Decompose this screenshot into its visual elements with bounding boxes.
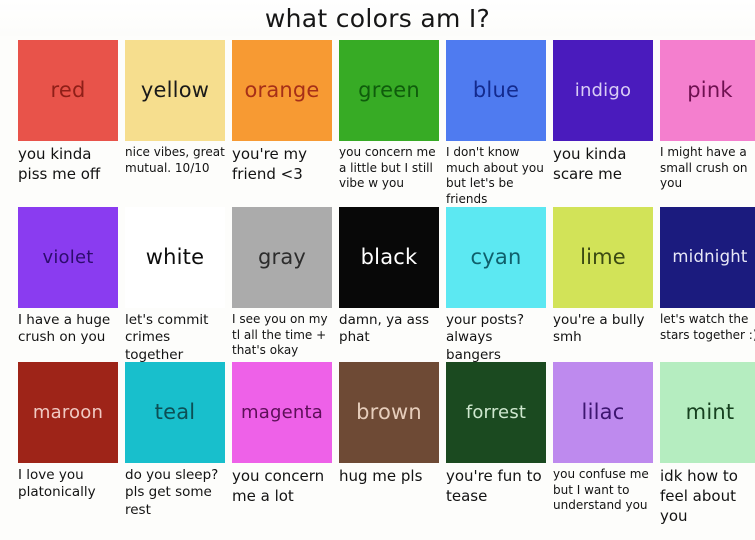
color-caption-pink: I might have a small crush on you <box>660 145 755 192</box>
color-caption-maroon: I love you platonically <box>18 467 118 502</box>
color-cell-violet[interactable]: violetI have a huge crush on you <box>18 207 118 347</box>
color-cell-magenta[interactable]: magentayou concern me a lot <box>232 362 332 507</box>
color-caption-forrest: you're fun to tease <box>446 467 546 507</box>
color-swatch-violet[interactable]: violet <box>18 207 118 308</box>
color-name-orange: orange <box>244 80 319 101</box>
color-cell-lime[interactable]: limeyou're a bully smh <box>553 207 653 347</box>
color-cell-pink[interactable]: pinkI might have a small crush on you <box>660 40 755 192</box>
color-swatch-green[interactable]: green <box>339 40 439 141</box>
color-name-gray: gray <box>258 247 306 268</box>
color-name-magenta: magenta <box>241 404 323 422</box>
color-name-violet: violet <box>43 249 94 267</box>
color-swatch-black[interactable]: black <box>339 207 439 308</box>
color-cell-lilac[interactable]: lilacyou confuse me but I want to unders… <box>553 362 653 514</box>
color-cell-blue[interactable]: blueI don't know much about you but let'… <box>446 40 546 207</box>
color-name-midnight: midnight <box>672 249 747 266</box>
color-chart-page: what colors am I? redyou kinda piss me o… <box>0 0 755 540</box>
color-name-forrest: forrest <box>466 404 526 422</box>
color-caption-black: damn, ya ass phat <box>339 312 439 347</box>
color-caption-magenta: you concern me a lot <box>232 467 332 507</box>
color-swatch-yellow[interactable]: yellow <box>125 40 225 141</box>
color-name-mint: mint <box>686 402 735 423</box>
color-cell-red[interactable]: redyou kinda piss me off <box>18 40 118 185</box>
color-name-teal: teal <box>155 402 196 423</box>
color-swatch-gray[interactable]: gray <box>232 207 332 308</box>
color-caption-white: let's commit crimes together <box>125 312 225 364</box>
color-cell-teal[interactable]: tealdo you sleep? pls get some rest <box>125 362 225 519</box>
color-name-indigo: indigo <box>575 82 631 100</box>
color-caption-violet: I have a huge crush on you <box>18 312 118 347</box>
color-row-2: violetI have a huge crush on youwhitelet… <box>18 207 746 362</box>
color-swatch-magenta[interactable]: magenta <box>232 362 332 463</box>
color-row-1: redyou kinda piss me offyellownice vibes… <box>18 40 746 207</box>
color-caption-lilac: you confuse me but I want to understand … <box>553 467 653 514</box>
color-cell-mint[interactable]: mintidk how to feel about you <box>660 362 755 526</box>
color-cell-cyan[interactable]: cyanyour posts? always bangers <box>446 207 546 364</box>
color-swatch-lilac[interactable]: lilac <box>553 362 653 463</box>
color-swatch-red[interactable]: red <box>18 40 118 141</box>
color-name-yellow: yellow <box>141 80 209 101</box>
color-caption-cyan: your posts? always bangers <box>446 312 546 364</box>
color-swatch-pink[interactable]: pink <box>660 40 755 141</box>
color-name-brown: brown <box>356 402 422 423</box>
color-name-red: red <box>50 80 85 101</box>
color-cell-indigo[interactable]: indigoyou kinda scare me <box>553 40 653 185</box>
color-cell-midnight[interactable]: midnightlet's watch the stars together :… <box>660 207 755 343</box>
color-grid: redyou kinda piss me offyellownice vibes… <box>18 40 746 537</box>
color-caption-teal: do you sleep? pls get some rest <box>125 467 225 519</box>
color-name-lilac: lilac <box>582 402 625 423</box>
color-cell-yellow[interactable]: yellownice vibes, great mutual. 10/10 <box>125 40 225 176</box>
color-swatch-blue[interactable]: blue <box>446 40 546 141</box>
color-name-blue: blue <box>473 80 519 101</box>
color-swatch-white[interactable]: white <box>125 207 225 308</box>
color-cell-maroon[interactable]: maroonI love you platonically <box>18 362 118 502</box>
color-caption-mint: idk how to feel about you <box>660 467 755 526</box>
color-swatch-maroon[interactable]: maroon <box>18 362 118 463</box>
color-swatch-brown[interactable]: brown <box>339 362 439 463</box>
color-name-pink: pink <box>687 80 732 101</box>
color-name-white: white <box>146 247 204 268</box>
color-swatch-forrest[interactable]: forrest <box>446 362 546 463</box>
color-swatch-mint[interactable]: mint <box>660 362 755 463</box>
color-cell-gray[interactable]: grayI see you on my tl all the time + th… <box>232 207 332 359</box>
color-caption-lime: you're a bully smh <box>553 312 653 347</box>
color-row-3: maroonI love you platonicallytealdo you … <box>18 362 746 537</box>
color-caption-orange: you're my friend <3 <box>232 145 332 185</box>
color-caption-midnight: let's watch the stars together :) <box>660 312 755 343</box>
color-swatch-cyan[interactable]: cyan <box>446 207 546 308</box>
color-swatch-indigo[interactable]: indigo <box>553 40 653 141</box>
color-cell-black[interactable]: blackdamn, ya ass phat <box>339 207 439 347</box>
color-caption-yellow: nice vibes, great mutual. 10/10 <box>125 145 225 176</box>
color-name-green: green <box>358 80 420 101</box>
color-caption-green: you concern me a little but I still vibe… <box>339 145 439 192</box>
color-caption-brown: hug me pls <box>339 467 439 487</box>
color-name-maroon: maroon <box>33 404 103 422</box>
color-swatch-orange[interactable]: orange <box>232 40 332 141</box>
color-caption-red: you kinda piss me off <box>18 145 118 185</box>
color-swatch-lime[interactable]: lime <box>553 207 653 308</box>
color-name-lime: lime <box>580 247 626 268</box>
color-cell-orange[interactable]: orangeyou're my friend <3 <box>232 40 332 185</box>
color-cell-white[interactable]: whitelet's commit crimes together <box>125 207 225 364</box>
color-name-cyan: cyan <box>471 247 522 268</box>
page-title: what colors am I? <box>0 4 755 33</box>
color-swatch-midnight[interactable]: midnight <box>660 207 755 308</box>
color-swatch-teal[interactable]: teal <box>125 362 225 463</box>
color-caption-blue: I don't know much about you but let's be… <box>446 145 546 207</box>
color-name-black: black <box>361 247 418 268</box>
color-cell-forrest[interactable]: forrestyou're fun to tease <box>446 362 546 507</box>
color-caption-indigo: you kinda scare me <box>553 145 653 185</box>
color-caption-gray: I see you on my tl all the time + that's… <box>232 312 332 359</box>
color-cell-green[interactable]: greenyou concern me a little but I still… <box>339 40 439 192</box>
color-cell-brown[interactable]: brownhug me pls <box>339 362 439 487</box>
